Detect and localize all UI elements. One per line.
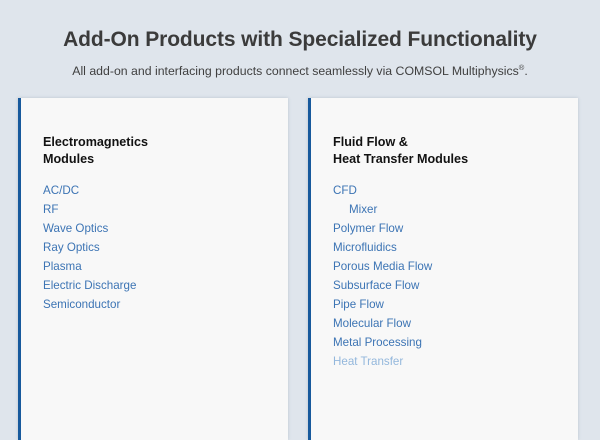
module-link[interactable]: Microfluidics xyxy=(333,238,560,257)
module-card-row: Electromagnetics Modules AC/DC RF Wave O… xyxy=(18,98,578,440)
module-link[interactable]: CFD xyxy=(333,181,560,200)
module-sublink[interactable]: Mixer xyxy=(333,200,560,219)
module-card-electromagnetics: Electromagnetics Modules AC/DC RF Wave O… xyxy=(18,98,288,440)
module-link[interactable]: Subsurface Flow xyxy=(333,276,560,295)
module-link[interactable]: Wave Optics xyxy=(43,219,270,238)
page-subtitle-text: All add-on and interfacing products conn… xyxy=(72,64,519,78)
module-card-heading: Fluid Flow & Heat Transfer Modules xyxy=(333,134,560,167)
module-link[interactable]: Electric Discharge xyxy=(43,276,270,295)
module-card-fluid-flow-heat-transfer: Fluid Flow & Heat Transfer Modules CFD M… xyxy=(308,98,578,440)
module-card-heading-line2: Modules xyxy=(43,152,94,166)
module-card-heading: Electromagnetics Modules xyxy=(43,134,270,167)
module-link[interactable]: Semiconductor xyxy=(43,295,270,314)
module-card-heading-line1: Electromagnetics xyxy=(43,135,148,149)
module-link[interactable]: Pipe Flow xyxy=(333,295,560,314)
page-root: Add-On Products with Specialized Functio… xyxy=(0,0,600,400)
module-link[interactable]: Porous Media Flow xyxy=(333,257,560,276)
module-card-heading-line1: Fluid Flow & xyxy=(333,135,408,149)
page-subtitle: All add-on and interfacing products conn… xyxy=(0,64,600,78)
page-title: Add-On Products with Specialized Functio… xyxy=(0,28,600,52)
module-link[interactable]: RF xyxy=(43,200,270,219)
page-header: Add-On Products with Specialized Functio… xyxy=(0,0,600,78)
module-link[interactable]: Polymer Flow xyxy=(333,219,560,238)
module-link-list: AC/DC RF Wave Optics Ray Optics Plasma E… xyxy=(43,181,270,314)
module-link[interactable]: Plasma xyxy=(43,257,270,276)
module-link[interactable]: AC/DC xyxy=(43,181,270,200)
module-link[interactable]: Metal Processing xyxy=(333,333,560,352)
module-link-list: CFD Mixer Polymer Flow Microfluidics Por… xyxy=(333,181,560,371)
page-subtitle-period: . xyxy=(524,64,527,78)
module-card-heading-line2: Heat Transfer Modules xyxy=(333,152,468,166)
module-link[interactable]: Molecular Flow xyxy=(333,314,560,333)
module-link[interactable]: Heat Transfer xyxy=(333,352,560,371)
module-link[interactable]: Ray Optics xyxy=(43,238,270,257)
